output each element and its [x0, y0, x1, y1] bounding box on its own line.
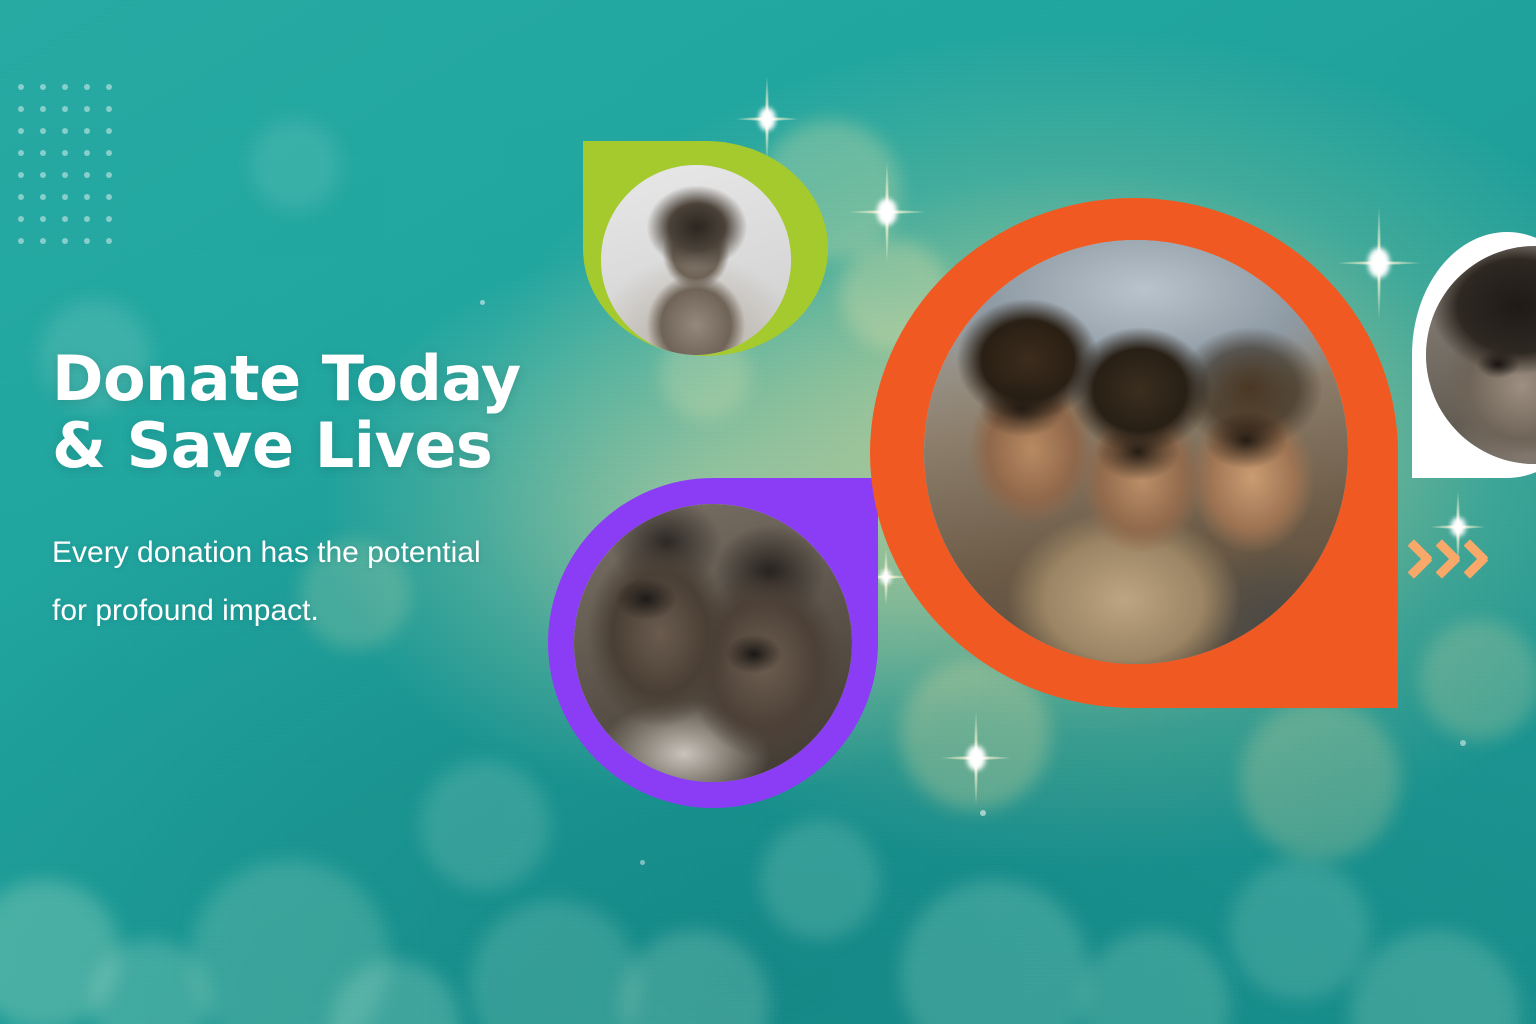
- chevron-left-icon: [1480, 536, 1506, 582]
- photo-card-green[interactable]: [583, 141, 828, 356]
- photo-card-orange[interactable]: [870, 198, 1398, 708]
- photo-green: [601, 165, 791, 355]
- photo-white: [1426, 246, 1536, 464]
- donation-hero-banner: Donate Today & Save Lives Every donation…: [0, 0, 1536, 1024]
- headline-line-2: & Save Lives: [52, 413, 672, 480]
- hero-copy-block: Donate Today & Save Lives Every donation…: [52, 346, 672, 640]
- page-title: Donate Today & Save Lives: [52, 346, 672, 480]
- photo-orange: [924, 240, 1348, 664]
- headline-line-1: Donate Today: [52, 342, 521, 415]
- hero-subcopy: Every donation has the potential for pro…: [52, 524, 522, 640]
- photo-card-white[interactable]: [1412, 232, 1536, 478]
- carousel-prev-button[interactable]: [1424, 536, 1508, 586]
